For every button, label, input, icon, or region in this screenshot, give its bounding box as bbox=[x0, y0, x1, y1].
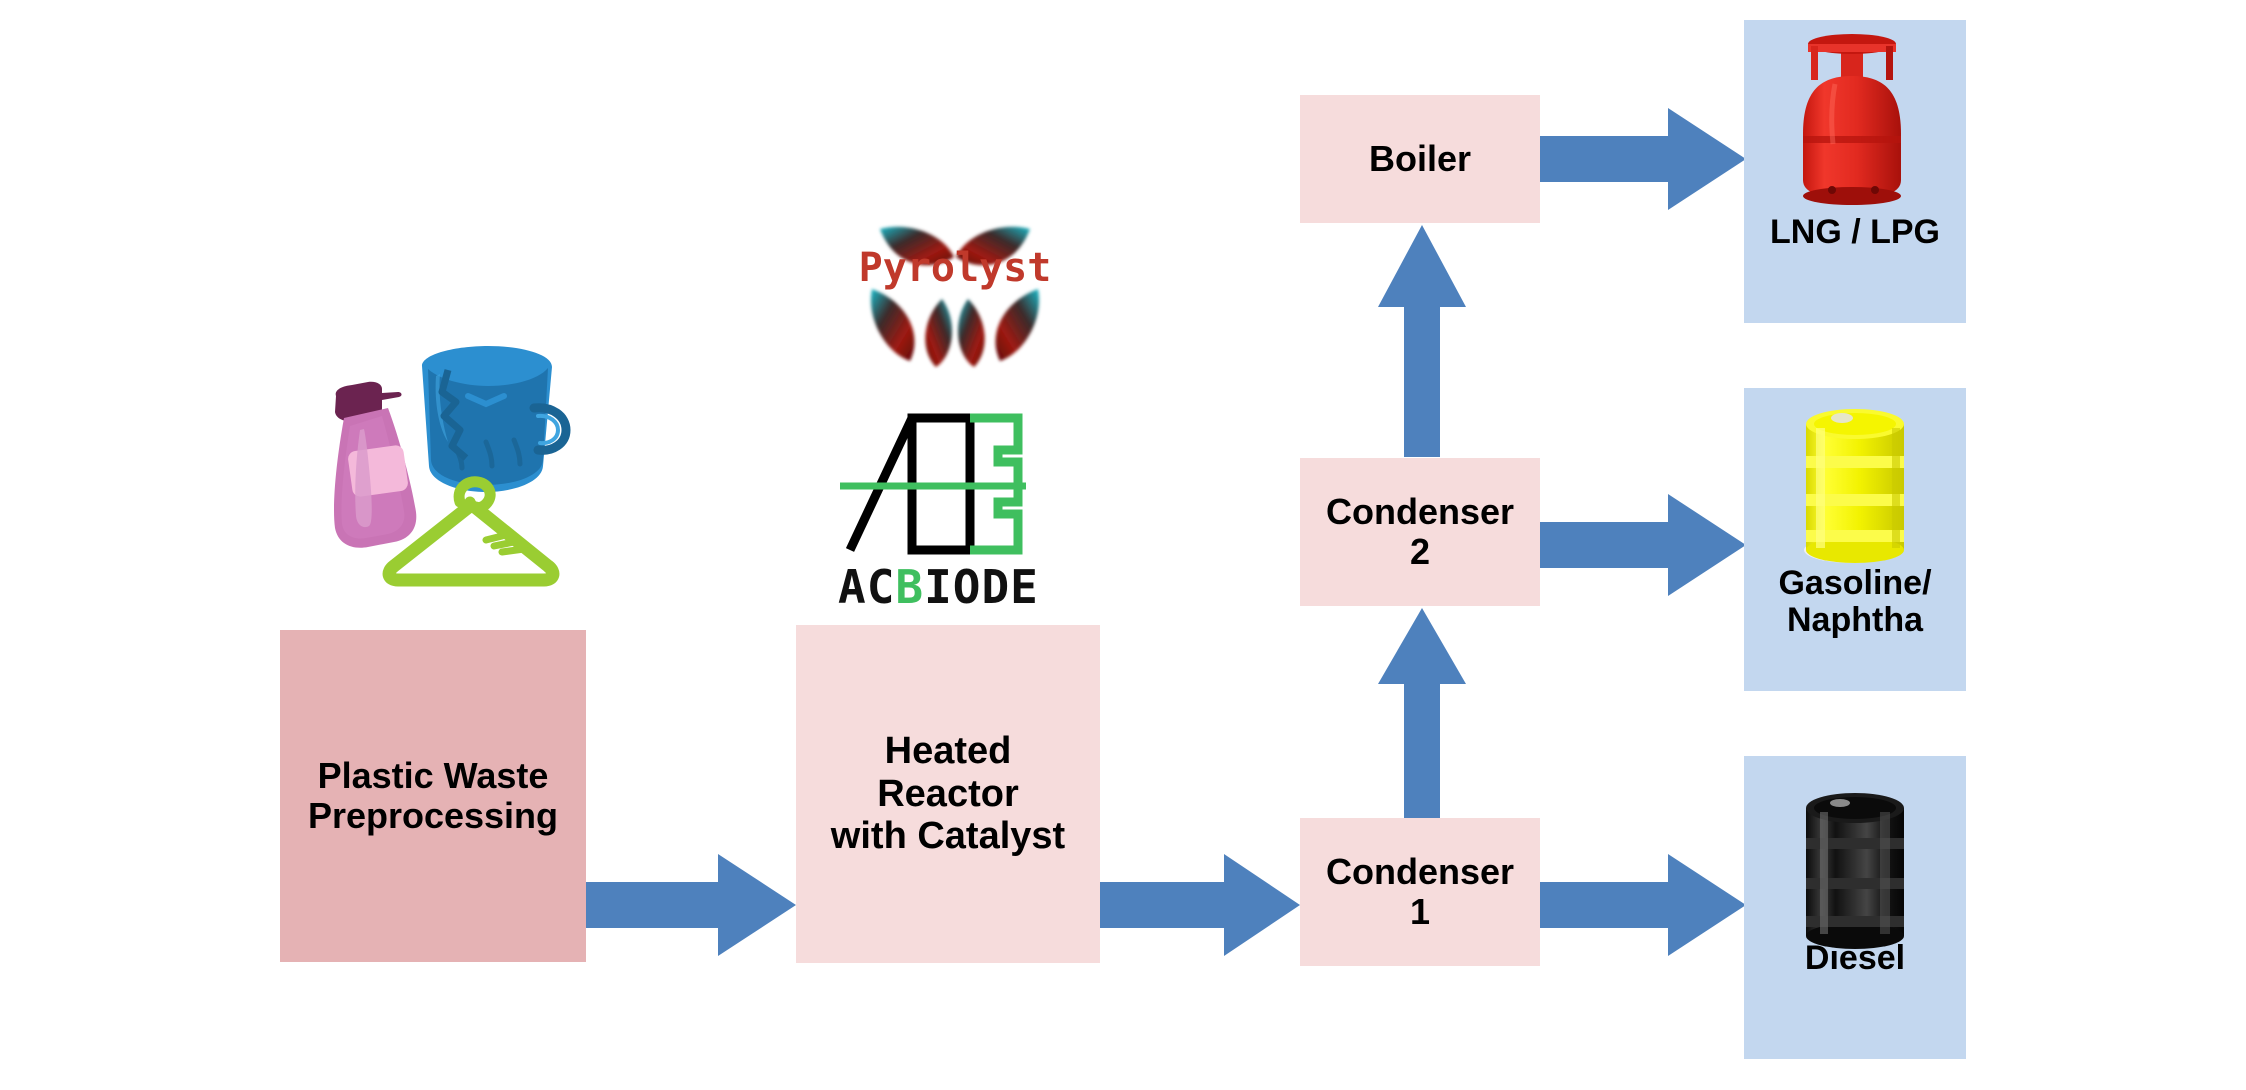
yellow-barrel-icon bbox=[1780, 394, 1930, 569]
node-condenser-2[interactable]: Condenser 2 bbox=[1300, 458, 1540, 606]
black-barrel-icon bbox=[1780, 778, 1930, 956]
condenser1-line-2: 1 bbox=[1326, 892, 1514, 932]
reactor-line-2: Reactor bbox=[831, 773, 1065, 816]
output-panel-diesel[interactable]: Diesel bbox=[1744, 756, 1966, 1059]
pyrolyst-wordmark: Pyrolyst bbox=[859, 245, 1052, 291]
gas-cylinder-icon bbox=[1775, 24, 1935, 214]
condenser1-line-1: Condenser bbox=[1326, 852, 1514, 892]
arrow-condenser1-to-diesel bbox=[1540, 852, 1748, 958]
arrow-condenser1-to-condenser2 bbox=[1376, 606, 1468, 820]
cracked-bucket-icon bbox=[422, 346, 566, 492]
acbiode-mark-icon bbox=[840, 410, 1040, 555]
arrow-condenser2-to-gasoline bbox=[1540, 492, 1748, 598]
node-condenser-1[interactable]: Condenser 1 bbox=[1300, 818, 1540, 966]
output-panel-lng-lpg[interactable]: LNG / LPG bbox=[1744, 20, 1966, 323]
reactor-line-3: with Catalyst bbox=[831, 815, 1065, 858]
output-label-gasoline-naphtha: Gasoline/ Naphtha bbox=[1744, 565, 1966, 640]
node-heated-reactor[interactable]: Heated Reactor with Catalyst bbox=[796, 625, 1100, 963]
acbiode-wordmark: ACBIODE bbox=[838, 560, 1039, 614]
clothes-hanger-icon bbox=[389, 482, 553, 580]
boiler-label: Boiler bbox=[1369, 139, 1471, 179]
gasoline-line-1: Gasoline/ bbox=[1744, 565, 1966, 602]
reactor-line-1: Heated bbox=[831, 730, 1065, 773]
pyrolyst-logo: Pyrolyst bbox=[850, 215, 1060, 390]
gasoline-line-2: Naphtha bbox=[1744, 602, 1966, 639]
node-boiler[interactable]: Boiler bbox=[1300, 95, 1540, 223]
output-label-lng-lpg: LNG / LPG bbox=[1744, 214, 1966, 251]
arrow-preprocessing-to-reactor bbox=[586, 852, 798, 958]
arrow-boiler-to-lng-lpg bbox=[1540, 106, 1748, 212]
plastic-waste-illustration bbox=[290, 330, 580, 590]
condenser2-line-1: Condenser bbox=[1326, 492, 1514, 532]
arrow-reactor-to-condenser1 bbox=[1100, 852, 1302, 958]
output-panel-gasoline-naphtha[interactable]: Gasoline/ Naphtha bbox=[1744, 388, 1966, 691]
diagram-canvas: Pyrolyst ACBIODE Plastic Waste Preproces… bbox=[0, 0, 2246, 1090]
condenser2-line-2: 2 bbox=[1326, 532, 1514, 572]
arrow-condenser2-to-boiler bbox=[1376, 223, 1468, 459]
node-plastic-waste-preprocessing[interactable]: Plastic Waste Preprocessing bbox=[280, 630, 586, 962]
preprocessing-line-2: Preprocessing bbox=[308, 796, 558, 836]
pump-bottle-icon bbox=[334, 382, 416, 548]
preprocessing-line-1: Plastic Waste bbox=[308, 756, 558, 796]
